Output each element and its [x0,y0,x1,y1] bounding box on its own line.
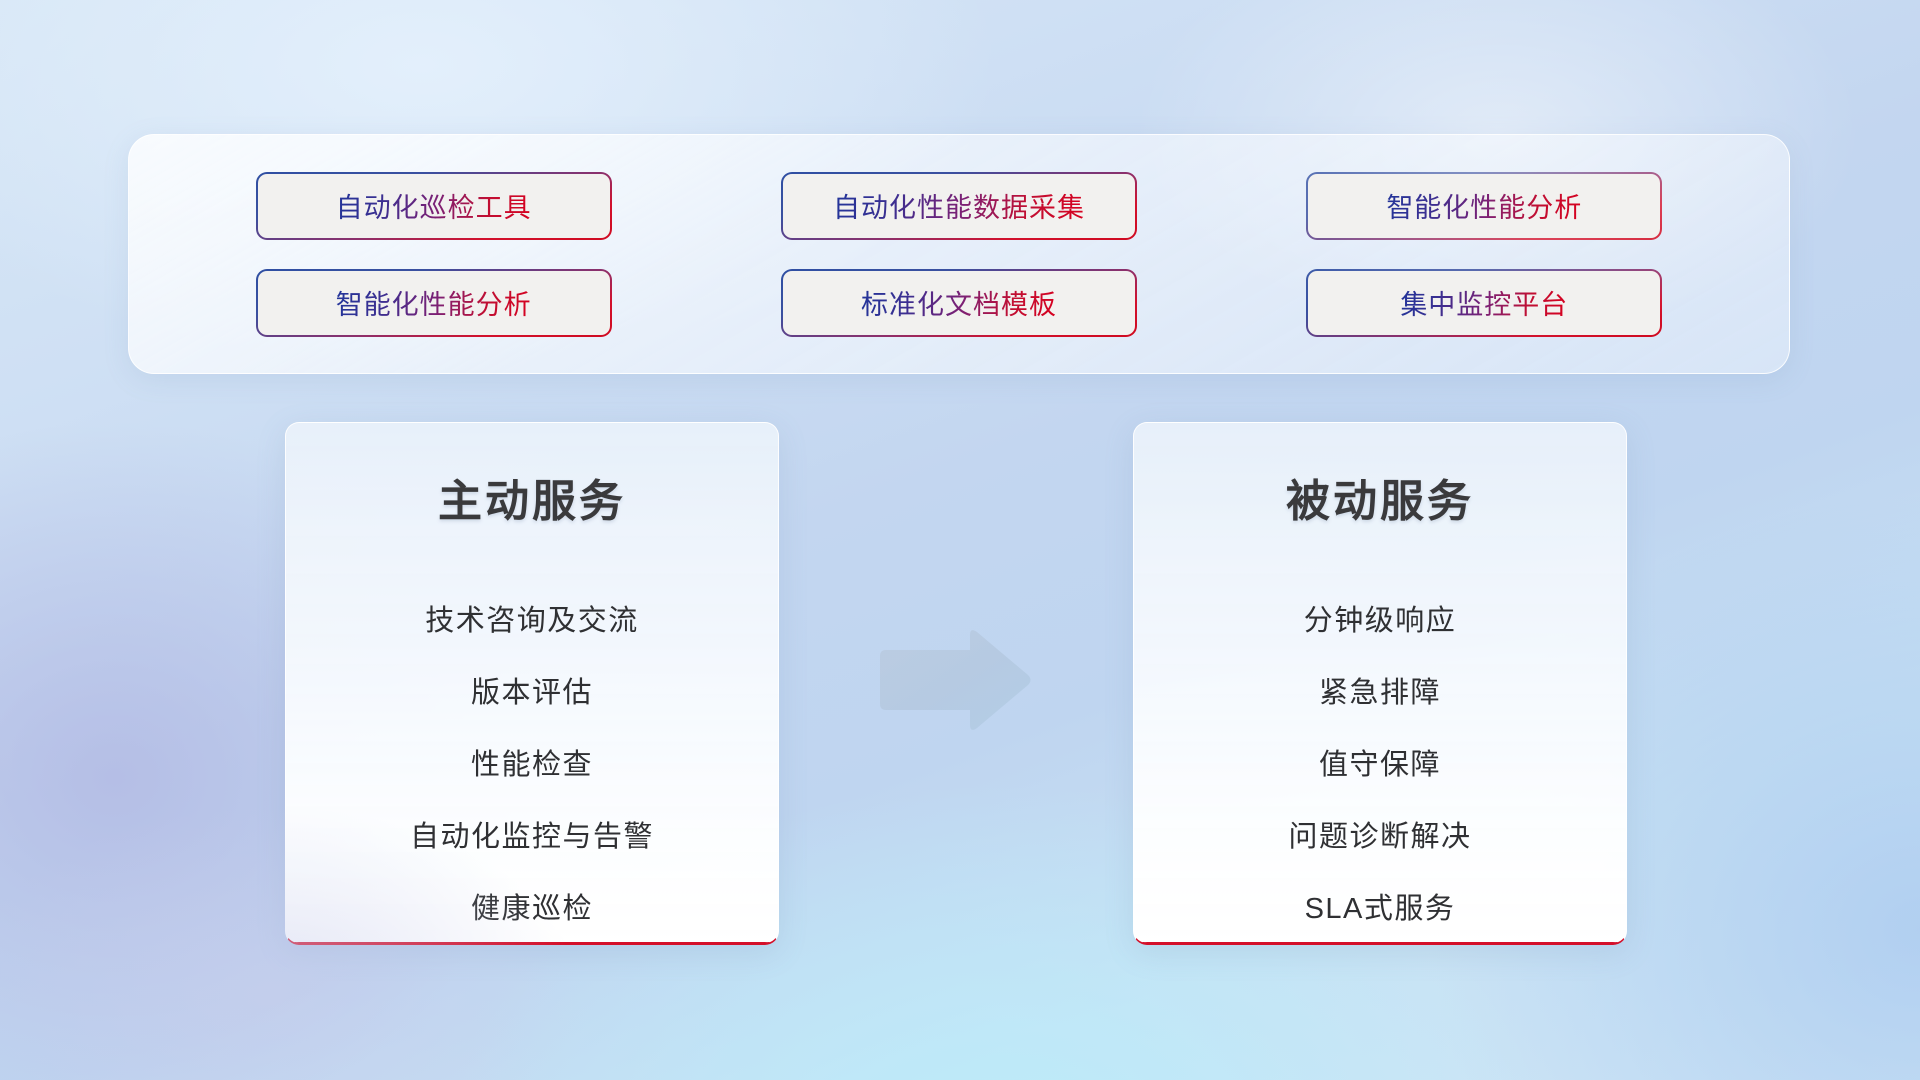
list-item: 问题诊断解决 [1288,801,1471,873]
capability-chip-5[interactable]: 标准化文档模板 [781,269,1137,337]
service-item-list: 分钟级响应 紧急排障 值守保障 问题诊断解决 SLA式服务 [1134,585,1626,945]
service-item-list: 技术咨询及交流 版本评估 性能检查 自动化监控与告警 健康巡检 [286,585,778,945]
list-item: 技术咨询及交流 [425,585,639,657]
capability-chip-label: 自动化巡检工具 [336,186,532,225]
capability-chip-label: 智能化性能分析 [336,283,532,322]
capability-chip-label: 智能化性能分析 [1386,186,1582,225]
list-item: 性能检查 [471,729,593,801]
capability-chip-label: 标准化文档模板 [861,283,1057,322]
list-item: 自动化监控与告警 [410,801,654,873]
capability-chip-label: 集中监控平台 [1400,283,1568,322]
list-item: 紧急排障 [1319,657,1441,729]
list-item: 值守保障 [1319,729,1441,801]
card-title: 被动服务 [1286,465,1474,529]
slide-canvas: 自动化巡检工具 自动化性能数据采集 智能化性能分析 智能化性能分析 标准化文档模… [0,0,1920,1080]
list-item: 版本评估 [471,657,593,729]
capability-panel: 自动化巡检工具 自动化性能数据采集 智能化性能分析 智能化性能分析 标准化文档模… [128,134,1790,374]
list-item: 分钟级响应 [1304,585,1457,657]
capability-chip-4[interactable]: 智能化性能分析 [256,269,612,337]
list-item: 健康巡检 [471,873,593,945]
capability-chip-6[interactable]: 集中监控平台 [1306,269,1662,337]
right-arrow-icon [874,626,1034,734]
card-title: 主动服务 [438,465,626,529]
service-card-proactive[interactable]: 主动服务 技术咨询及交流 版本评估 性能检查 自动化监控与告警 健康巡检 [285,422,779,945]
capability-chip-label: 自动化性能数据采集 [833,186,1085,225]
list-item: SLA式服务 [1305,873,1456,945]
capability-chip-1[interactable]: 自动化巡检工具 [256,172,612,240]
service-card-reactive[interactable]: 被动服务 分钟级响应 紧急排障 值守保障 问题诊断解决 SLA式服务 [1133,422,1627,945]
capability-chip-3[interactable]: 智能化性能分析 [1306,172,1662,240]
capability-chip-2[interactable]: 自动化性能数据采集 [781,172,1137,240]
